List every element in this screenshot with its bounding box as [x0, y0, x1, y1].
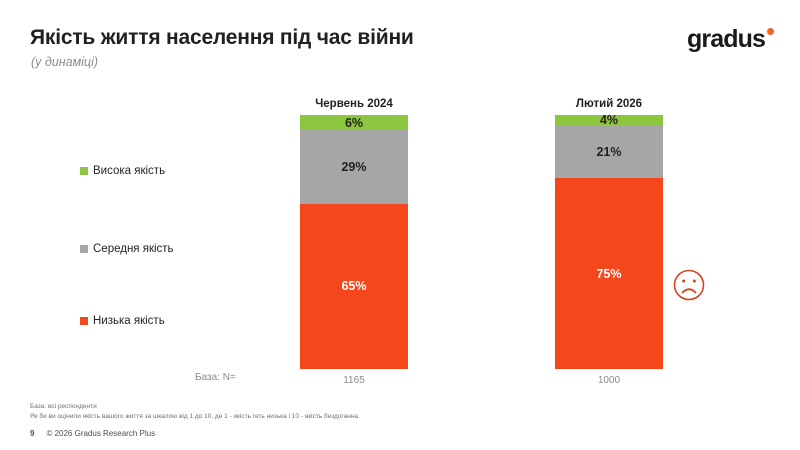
- bar-base-value: 1165: [300, 375, 408, 386]
- copyright-text: © 2026 Gradus Research Plus: [46, 429, 155, 438]
- page-number: 9: [30, 429, 34, 438]
- bar-segment-high-quality[interactable]: 6%: [300, 115, 408, 130]
- bar-stack[interactable]: 4% 21% 75%: [555, 115, 663, 369]
- footer-meta: 9 © 2026 Gradus Research Plus: [30, 429, 770, 438]
- bar-group-february-2026: Лютий 2026 4% 21% 75% 1000: [555, 98, 663, 386]
- bar-segment-low-quality[interactable]: 75%: [555, 178, 663, 369]
- footnote-question: Як би ви оцінили якість вашого життя за …: [30, 412, 770, 421]
- bar-group-header: Червень 2024: [300, 98, 408, 110]
- bar-segment-low-quality[interactable]: 65%: [300, 204, 408, 369]
- slide-footer: База: всі респонденти Як би ви оцінили я…: [30, 402, 770, 438]
- bar-group-header: Лютий 2026: [555, 98, 663, 110]
- bar-stack[interactable]: 6% 29% 65%: [300, 115, 408, 369]
- bar-group-june-2024: Червень 2024 6% 29% 65% 1165: [300, 98, 408, 386]
- sad-face-icon: [672, 268, 706, 302]
- base-size-label: База: N=: [195, 372, 236, 383]
- bar-segment-medium-quality[interactable]: 29%: [300, 130, 408, 204]
- bar-base-value: 1000: [555, 375, 663, 386]
- footnote-base: База: всі респонденти: [30, 402, 770, 411]
- bar-segment-high-quality[interactable]: 4%: [555, 115, 663, 125]
- stacked-bar-chart: Червень 2024 6% 29% 65% 1165 Лютий 2026 …: [0, 0, 800, 450]
- bar-segment-medium-quality[interactable]: 21%: [555, 125, 663, 178]
